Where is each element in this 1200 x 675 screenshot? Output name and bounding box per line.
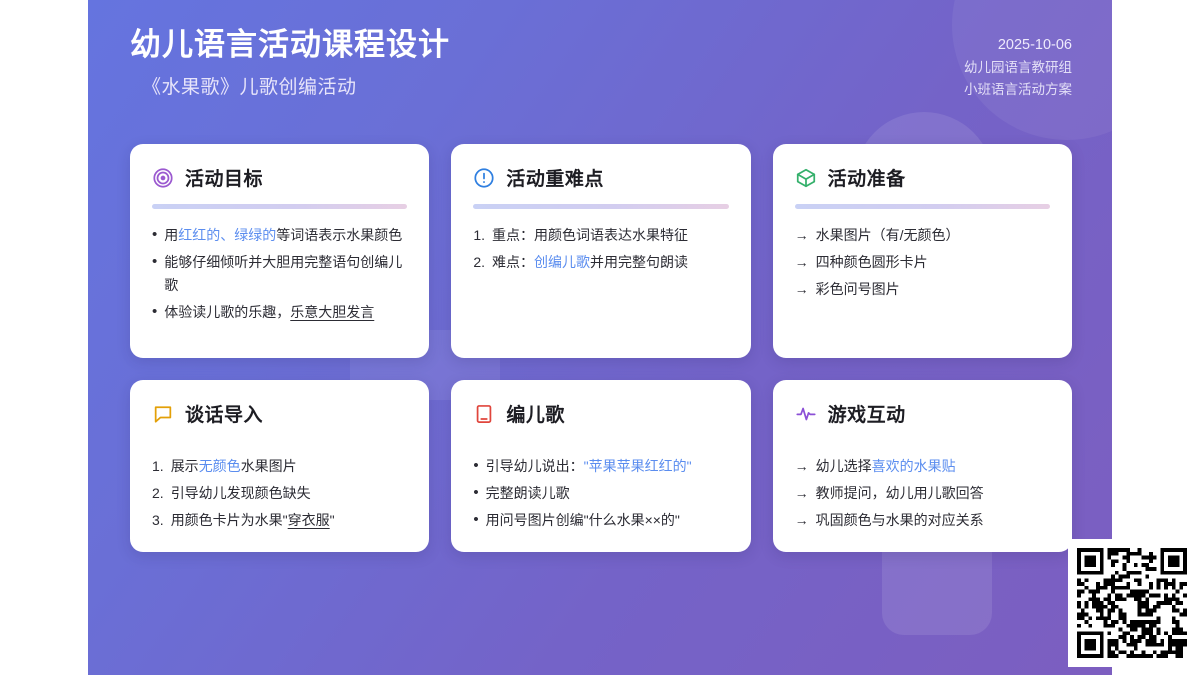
list-item: →四种颜色圆形卡片 (795, 251, 1050, 274)
plain-text: 用颜色卡片为水果" (171, 512, 288, 528)
plain-text: 水果图片（有/无颜色） (816, 227, 960, 243)
list-item: •引导幼儿说出："苹果苹果红红的" (473, 455, 728, 478)
plain-text: 巩固颜色与水果的对应关系 (816, 512, 984, 528)
list-item: 2.难点：创编儿歌并用完整句朗读 (473, 251, 728, 274)
list-item: →水果图片（有/无颜色） (795, 224, 1050, 247)
list-item: •用问号图片创编"什么水果××的" (473, 509, 728, 532)
number-marker: 1. (473, 224, 485, 247)
list-item: →巩固颜色与水果的对应关系 (795, 509, 1050, 532)
arrow-marker: → (795, 278, 809, 301)
list-item: →教师提问，幼儿用儿歌回答 (795, 482, 1050, 505)
list-item-text: 能够仔细倾听并大胆用完整语句创编儿歌 (164, 251, 407, 297)
bullet-marker: • (152, 251, 157, 273)
card-title: 活动目标 (185, 164, 263, 191)
underlined-text: 乐意大胆发言 (290, 304, 374, 320)
card-compose-song: 编儿歌•引导幼儿说出："苹果苹果红红的"•完整朗读儿歌•用问号图片创编"什么水果… (451, 380, 750, 552)
card-title: 编儿歌 (506, 400, 565, 427)
plain-text: 水果图片 (241, 458, 297, 474)
plain-text: 彩色问号图片 (816, 281, 900, 297)
card-divider (473, 204, 728, 209)
arrow-marker: → (795, 251, 809, 274)
page-title: 幼儿语言活动课程设计 (130, 26, 1072, 65)
plain-text: 能够仔细倾听并大胆用完整语句创编儿歌 (164, 254, 402, 293)
meta-date: 2025-10-06 (964, 34, 1072, 57)
card-item-list: 1.展示无颜色水果图片2.引导幼儿发现颜色缺失3.用颜色卡片为水果"穿衣服" (152, 455, 407, 536)
arrow-marker: → (795, 455, 809, 478)
card-talk-intro: 谈话导入1.展示无颜色水果图片2.引导幼儿发现颜色缺失3.用颜色卡片为水果"穿衣… (130, 380, 429, 552)
card-header: 活动重难点 (473, 164, 728, 191)
card-divider (152, 204, 407, 209)
list-item-text: 重点：用颜色词语表达水果特征 (492, 224, 729, 247)
card-header: 游戏互动 (795, 400, 1050, 427)
plain-text: " (330, 512, 335, 528)
list-item: →幼儿选择喜欢的水果贴 (795, 455, 1050, 478)
plain-text: 完整朗读儿歌 (486, 485, 570, 501)
book-icon (473, 403, 495, 425)
card-item-list: •用红红的、绿绿的等词语表示水果颜色•能够仔细倾听并大胆用完整语句创编儿歌•体验… (152, 224, 407, 328)
number-marker: 1. (152, 455, 164, 478)
plain-text: 难点： (492, 254, 534, 270)
list-item: •体验读儿歌的乐趣，乐意大胆发言 (152, 301, 407, 324)
card-header: 活动准备 (795, 164, 1050, 191)
meta-plan: 小班语言活动方案 (964, 79, 1072, 101)
card-game-interaction: 游戏互动→幼儿选择喜欢的水果贴→教师提问，幼儿用儿歌回答→巩固颜色与水果的对应关… (773, 380, 1072, 552)
number-marker: 2. (152, 482, 164, 505)
number-marker: 2. (473, 251, 485, 274)
list-item: 3.用颜色卡片为水果"穿衣服" (152, 509, 407, 532)
list-item-text: 引导幼儿发现颜色缺失 (171, 482, 408, 505)
list-item-text: 用颜色卡片为水果"穿衣服" (171, 509, 408, 532)
list-item: 1.展示无颜色水果图片 (152, 455, 407, 478)
highlighted-text: 无颜色 (199, 458, 241, 474)
number-marker: 3. (152, 509, 164, 532)
underlined-text: 穿衣服 (288, 512, 330, 528)
meta-org: 幼儿园语言教研组 (964, 57, 1072, 79)
arrow-marker: → (795, 224, 809, 247)
speech-bubble-icon (152, 403, 174, 425)
qr-code (1077, 548, 1187, 658)
plain-text: 并用完整句朗读 (590, 254, 688, 270)
list-item-text: 完整朗读儿歌 (486, 482, 729, 505)
plain-text: 引导幼儿说出： (486, 458, 584, 474)
activity-pulse-icon (795, 403, 817, 425)
list-item: →彩色问号图片 (795, 278, 1050, 301)
card-activity-goals: 活动目标•用红红的、绿绿的等词语表示水果颜色•能够仔细倾听并大胆用完整语句创编儿… (130, 144, 429, 358)
card-key-difficulty: 活动重难点1.重点：用颜色词语表达水果特征2.难点：创编儿歌并用完整句朗读 (451, 144, 750, 358)
bullet-marker: • (473, 455, 478, 477)
list-item-text: 幼儿选择喜欢的水果贴 (816, 455, 1050, 478)
plain-text: 用问号图片创编"什么水果××的" (486, 512, 680, 528)
list-item: •用红红的、绿绿的等词语表示水果颜色 (152, 224, 407, 247)
list-item-text: 用问号图片创编"什么水果××的" (486, 509, 729, 532)
highlighted-text: 红红的、绿绿的 (178, 227, 276, 243)
card-preparation: 活动准备→水果图片（有/无颜色）→四种颜色圆形卡片→彩色问号图片 (773, 144, 1072, 358)
list-item-text: 四种颜色圆形卡片 (816, 251, 1050, 274)
list-item: •完整朗读儿歌 (473, 482, 728, 505)
card-header: 活动目标 (152, 164, 407, 191)
card-header: 谈话导入 (152, 400, 407, 427)
plain-text: 等词语表示水果颜色 (276, 227, 402, 243)
slide: 幼儿语言活动课程设计 《水果歌》儿歌创编活动 2025-10-06 幼儿园语言教… (88, 0, 1112, 675)
arrow-marker: → (795, 482, 809, 505)
arrow-marker: → (795, 509, 809, 532)
package-icon (795, 167, 817, 189)
list-item-text: 教师提问，幼儿用儿歌回答 (816, 482, 1050, 505)
card-header: 编儿歌 (473, 400, 728, 427)
plain-text: 引导幼儿发现颜色缺失 (171, 485, 311, 501)
plain-text: 体验读儿歌的乐趣， (164, 304, 290, 320)
card-divider (795, 204, 1050, 209)
card-item-list: →幼儿选择喜欢的水果贴→教师提问，幼儿用儿歌回答→巩固颜色与水果的对应关系 (795, 455, 1050, 536)
highlighted-text: 创编儿歌 (534, 254, 590, 270)
list-item-text: 引导幼儿说出："苹果苹果红红的" (486, 455, 729, 478)
list-item-text: 展示无颜色水果图片 (171, 455, 408, 478)
card-grid: 活动目标•用红红的、绿绿的等词语表示水果颜色•能够仔细倾听并大胆用完整语句创编儿… (130, 144, 1072, 552)
card-title: 谈话导入 (185, 400, 263, 427)
plain-text: 教师提问，幼儿用儿歌回答 (816, 485, 984, 501)
plain-text: 展示 (171, 458, 199, 474)
list-item-text: 体验读儿歌的乐趣，乐意大胆发言 (164, 301, 407, 324)
header-meta: 2025-10-06 幼儿园语言教研组 小班语言活动方案 (964, 34, 1072, 101)
plain-text: 四种颜色圆形卡片 (816, 254, 928, 270)
list-item: 2.引导幼儿发现颜色缺失 (152, 482, 407, 505)
plain-text: 用 (164, 227, 178, 243)
card-title: 游戏互动 (828, 400, 906, 427)
page-subtitle: 《水果歌》儿歌创编活动 (142, 72, 1072, 99)
list-item: 1.重点：用颜色词语表达水果特征 (473, 224, 728, 247)
card-item-list: 1.重点：用颜色词语表达水果特征2.难点：创编儿歌并用完整句朗读 (473, 224, 728, 278)
card-title: 活动重难点 (506, 164, 604, 191)
list-item-text: 巩固颜色与水果的对应关系 (816, 509, 1050, 532)
plain-text: 幼儿选择 (816, 458, 872, 474)
highlighted-text: "苹果苹果红红的" (584, 458, 692, 474)
list-item-text: 用红红的、绿绿的等词语表示水果颜色 (164, 224, 407, 247)
alert-circle-icon (473, 167, 495, 189)
list-item-text: 彩色问号图片 (816, 278, 1050, 301)
plain-text: 重点：用颜色词语表达水果特征 (492, 227, 688, 243)
list-item: •能够仔细倾听并大胆用完整语句创编儿歌 (152, 251, 407, 297)
slide-header: 幼儿语言活动课程设计 《水果歌》儿歌创编活动 2025-10-06 幼儿园语言教… (130, 26, 1072, 122)
target-icon (152, 167, 174, 189)
bullet-marker: • (152, 224, 157, 246)
card-item-list: •引导幼儿说出："苹果苹果红红的"•完整朗读儿歌•用问号图片创编"什么水果××的… (473, 455, 728, 536)
card-item-list: →水果图片（有/无颜色）→四种颜色圆形卡片→彩色问号图片 (795, 224, 1050, 305)
highlighted-text: 喜欢的水果贴 (872, 458, 956, 474)
bullet-marker: • (473, 482, 478, 504)
card-title: 活动准备 (828, 164, 906, 191)
qr-code-container (1068, 539, 1196, 667)
screenshot-root: 幼儿语言活动课程设计 《水果歌》儿歌创编活动 2025-10-06 幼儿园语言教… (0, 0, 1200, 675)
list-item-text: 水果图片（有/无颜色） (816, 224, 1050, 247)
bullet-marker: • (473, 509, 478, 531)
bullet-marker: • (152, 301, 157, 323)
list-item-text: 难点：创编儿歌并用完整句朗读 (492, 251, 729, 274)
